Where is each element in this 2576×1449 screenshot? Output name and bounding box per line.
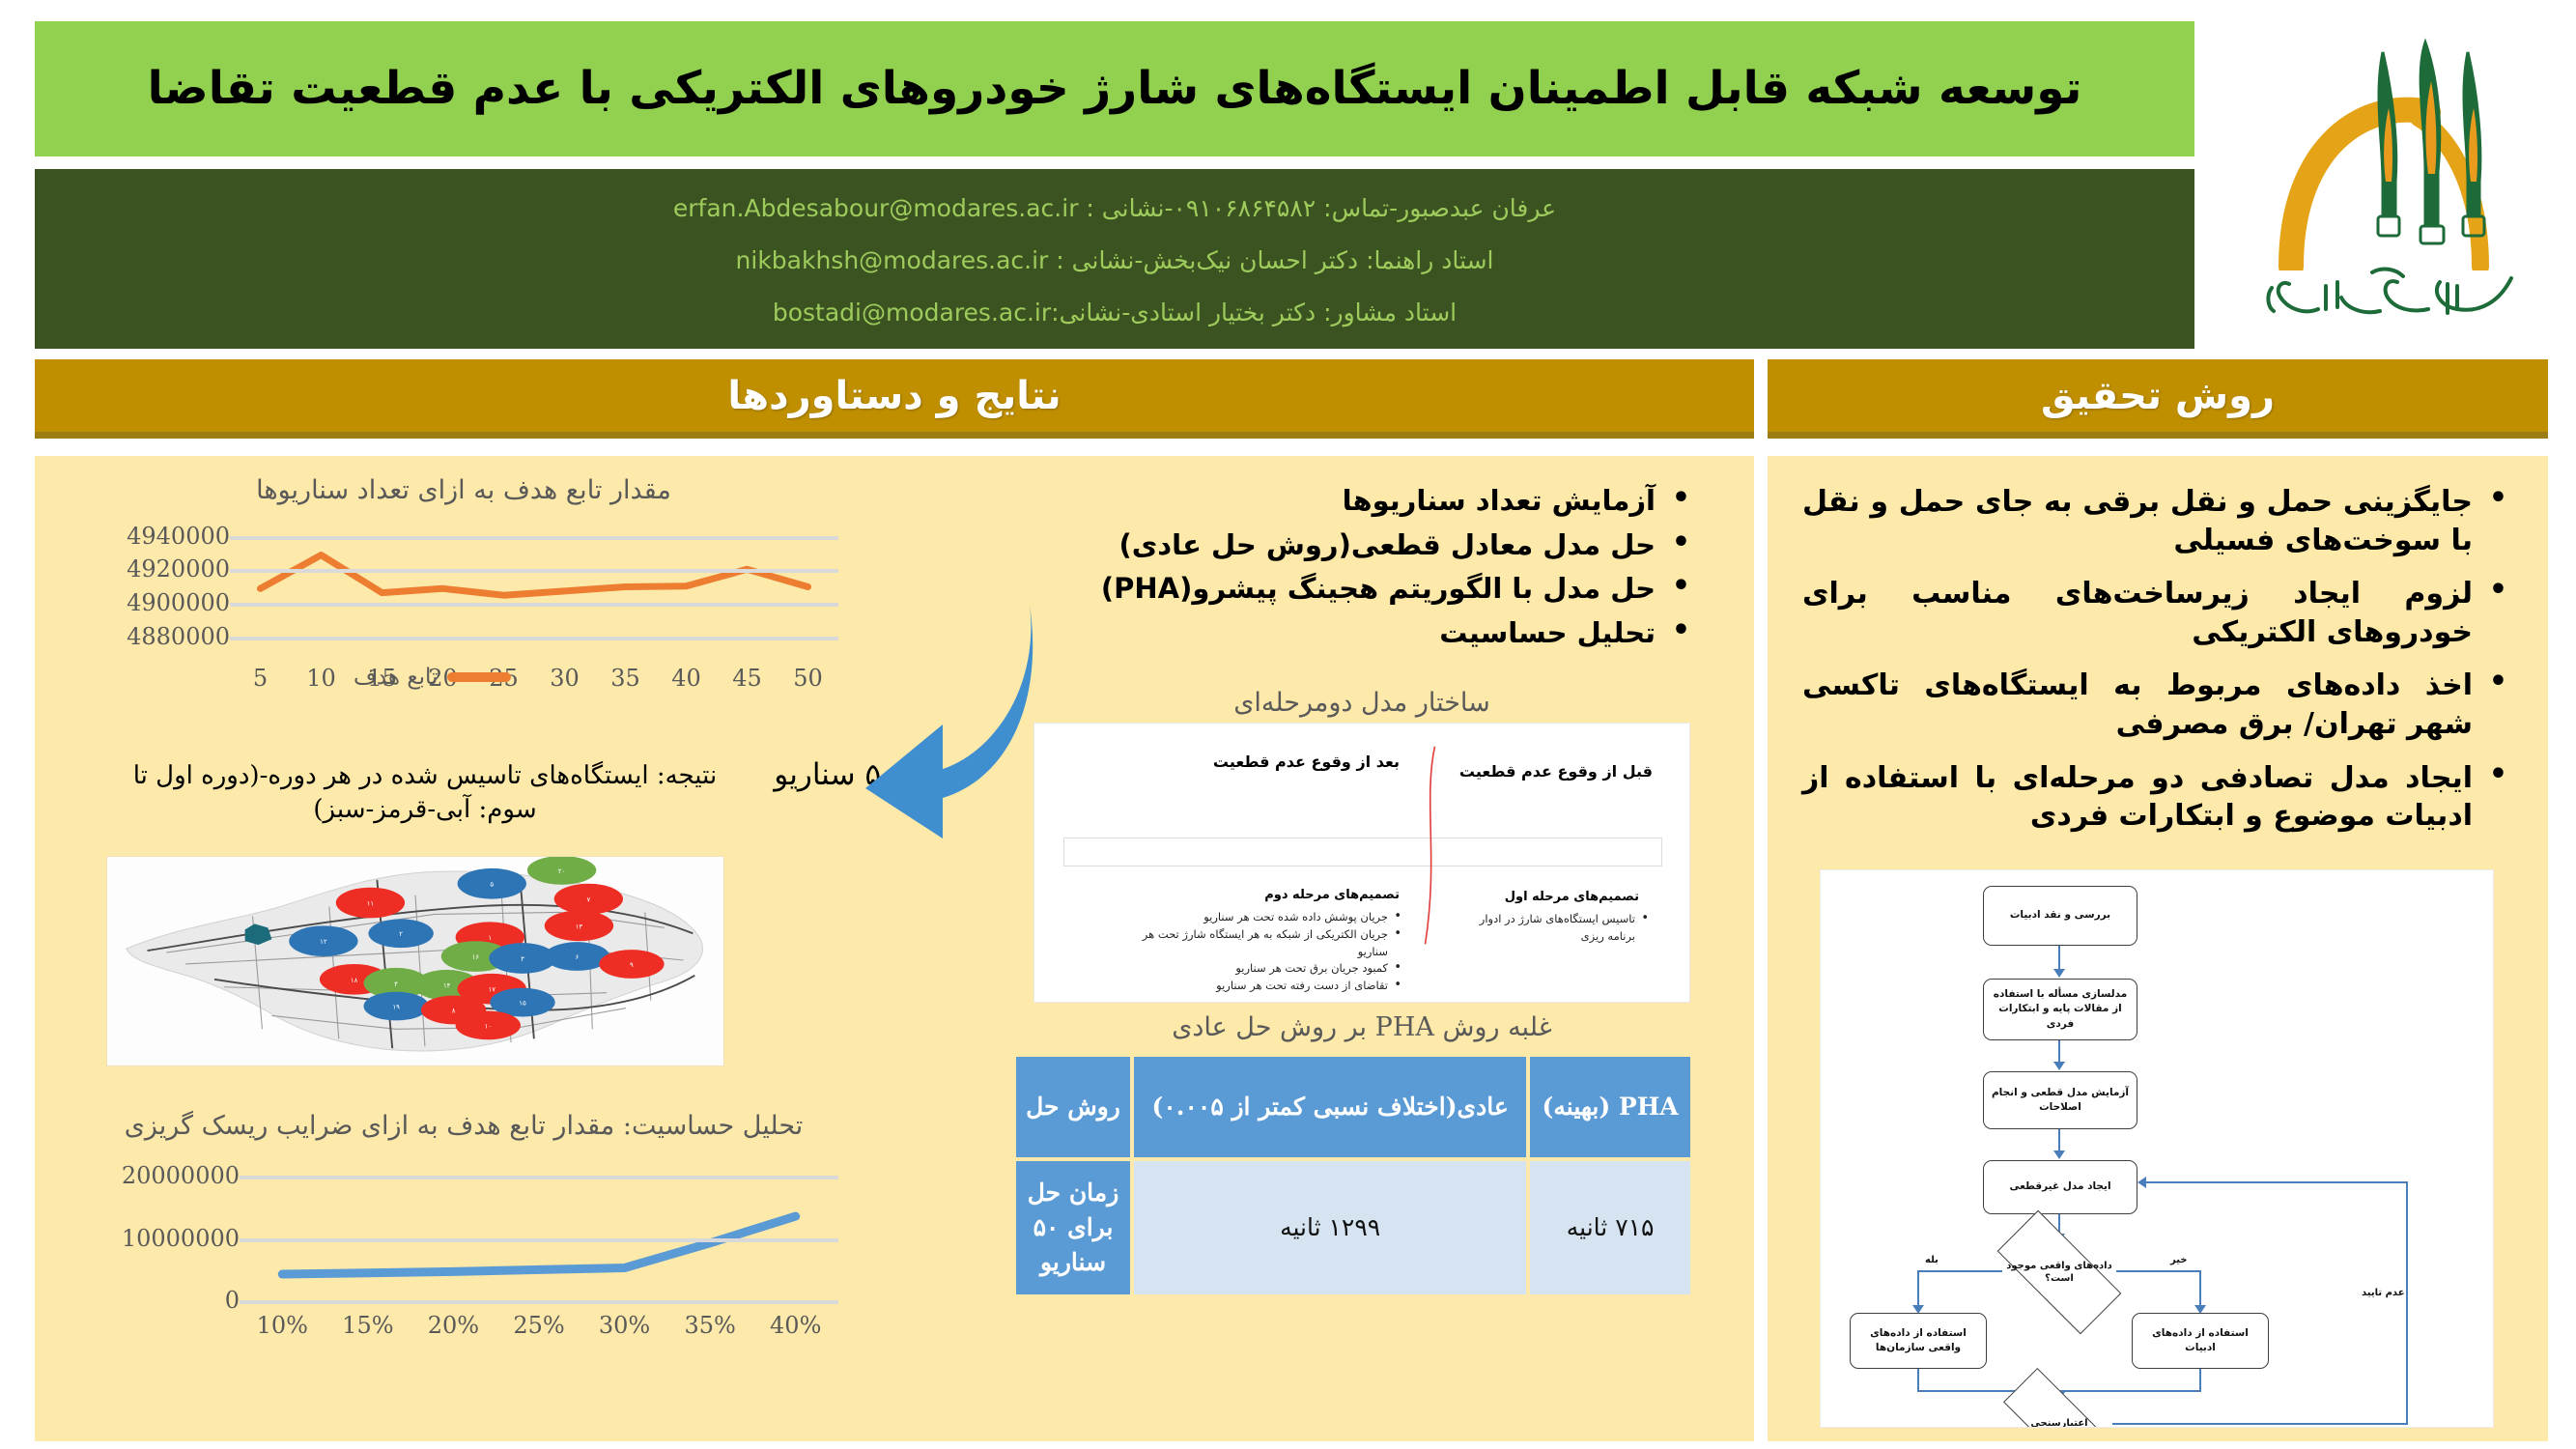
- svg-text:۲: ۲: [399, 930, 403, 938]
- chart-x-tick-label: 30: [550, 665, 580, 692]
- flow-node-deterministic-test: آزمایش مدل قطعی و انجام اصلاحات: [1983, 1071, 2137, 1129]
- stage2-subtitle: تصمیم‌های مرحله دوم: [1264, 888, 1400, 902]
- results-bullet-list: آزمایش تعداد سناریوها حل مدل معادل قطعی(…: [1022, 483, 1698, 660]
- svg-text:۱۶: ۱۶: [472, 953, 480, 961]
- flow-node-literature-data: استفاده از داده‌های ادبیات: [2132, 1313, 2269, 1369]
- flow-arrow: [2058, 1129, 2060, 1152]
- chart-x-tick-label: 10%: [257, 1312, 308, 1339]
- stage1-items: تاسیس ایستگاه‌های شارژ در ادوار برنامه ر…: [1467, 911, 1651, 946]
- tehran-station-map: ۱۱ ۵ ۲۰ ۷ ۱۳ ۱۲ ۲ ۱ ۱۶ ۳ ۶ ۹ ۱۸ ۴ ۱۴ ۱۷ …: [106, 856, 724, 1066]
- list-item: تقاضای از دست رفته تحت هر سناریو: [1123, 978, 1403, 995]
- svg-text:۵: ۵: [490, 881, 494, 889]
- chart-x-tick-label: 30%: [599, 1312, 650, 1339]
- map-graphic: ۱۱ ۵ ۲۰ ۷ ۱۳ ۱۲ ۲ ۱ ۱۶ ۳ ۶ ۹ ۱۸ ۴ ۱۴ ۱۷ …: [107, 857, 723, 1065]
- chart-x-tick-label: 50: [793, 665, 823, 692]
- flow-arrow: [2145, 1181, 2408, 1183]
- chart-gridline: [230, 637, 838, 640]
- flow-decision-label: داده‌های واقعی موجود است؟: [2000, 1260, 2118, 1286]
- pha-table-title: غلبه روش PHA بر روش حل عادی: [1024, 1012, 1700, 1042]
- chart-x-tick-label: 15%: [342, 1312, 393, 1339]
- svg-text:۷: ۷: [586, 896, 590, 904]
- chart-x-tick-label: 35: [610, 665, 640, 692]
- chart-x-tick-label: 40%: [770, 1312, 821, 1339]
- flow-edge-label-reject: عدم تایید: [2362, 1288, 2405, 1298]
- cell-normal-time: ۱۲۹۹ ثانیه: [1134, 1161, 1526, 1294]
- svg-text:۱۱: ۱۱: [367, 900, 374, 908]
- curved-arrow-icon: [850, 580, 1043, 840]
- logo-tulips-icon: [2353, 37, 2498, 259]
- flow-edge-label-no: خیر: [2170, 1255, 2188, 1265]
- col-header-pha: PHA (بهینه): [1530, 1057, 1690, 1157]
- svg-text:۱۲: ۱۲: [320, 938, 327, 946]
- svg-text:۱۸: ۱۸: [351, 977, 358, 984]
- chart-y-tick-label: 4880000: [115, 623, 230, 650]
- flow-edge-label-yes: بله: [1925, 1255, 1939, 1265]
- list-item: جایگزینی حمل و نقل برقی به جای حمل و نقل…: [1802, 483, 2515, 559]
- method-bullet-list: جایگزینی حمل و نقل برقی به جای حمل و نقل…: [1802, 483, 2515, 851]
- svg-text:۴: ۴: [394, 980, 398, 988]
- flow-arrow: [2199, 1270, 2201, 1307]
- chart-series-line: [230, 527, 838, 653]
- chart-title: تحلیل حساسیت: مقدار تابع هدف به ازای ضرا…: [68, 1111, 860, 1141]
- chart-series-line: [240, 1173, 838, 1300]
- chart-x-tick-label: 5: [253, 665, 268, 692]
- flow-node-modeling: مدلسازی مسأله با استفاده از مقالات پایه …: [1983, 979, 2137, 1040]
- section-header-method: روش تحقیق: [1768, 359, 2548, 439]
- university-logo: [2239, 14, 2548, 352]
- legend-label: تابع هدف: [354, 665, 438, 690]
- contact-bar: عرفان عبدصبور-تماس: ۰۹۱۰۶۸۶۴۵۸۲-نشانی : …: [35, 169, 2194, 349]
- flow-node-real-data: استفاده از داده‌های واقعی سازمان‌ها: [1850, 1313, 1987, 1369]
- chart-gridline: [240, 1300, 838, 1304]
- poster-title-bar: توسعه شبکه قابل اطمینان ایستگاه‌های شارژ…: [35, 21, 2194, 156]
- row-header-solve-time: زمان حل برای ۵۰ سناریو: [1016, 1161, 1130, 1294]
- table-row: ۷۱۵ ثانیه ۱۲۹۹ ثانیه زمان حل برای ۵۰ سنا…: [1016, 1161, 1690, 1294]
- chart-x-tick-label: 45: [732, 665, 762, 692]
- svg-text:۲۰: ۲۰: [558, 867, 565, 875]
- svg-text:۶: ۶: [576, 953, 580, 961]
- cell-pha-time: ۷۱۵ ثانیه: [1530, 1161, 1690, 1294]
- contact-line-advisor: استاد مشاور: دکتر بختیار استادی-نشانی:bo…: [93, 299, 2137, 327]
- flow-arrow: [2058, 1040, 2060, 1064]
- flow-arrow: [1917, 1369, 1919, 1392]
- svg-text:۱: ۱: [488, 934, 492, 942]
- chart-x-tick-label: 20%: [428, 1312, 479, 1339]
- section-header-method-label: روش تحقیق: [2041, 374, 2275, 418]
- two-stage-diagram: قبل از وقوع عدم قطعیت بعد از وقوع عدم قط…: [1033, 723, 1690, 1003]
- chart-gridline: [240, 1238, 838, 1242]
- list-item: تحلیل حساسیت: [1022, 615, 1698, 652]
- flow-arrow-head-icon: [2053, 969, 2065, 978]
- list-item: تاسیس ایستگاه‌های شارژ در ادوار برنامه ر…: [1467, 911, 1651, 946]
- list-item: آزمایش تعداد سناریوها: [1022, 483, 1698, 520]
- flow-arrow: [2406, 1181, 2408, 1425]
- page-title: توسعه شبکه قابل اطمینان ایستگاه‌های شارژ…: [148, 62, 2082, 115]
- col-header-method: روش حل: [1016, 1057, 1130, 1157]
- chart-y-tick-label: 10000000: [110, 1225, 240, 1252]
- research-method-flowchart: بررسی و نقد ادبیات مدلسازی مسأله با استف…: [1820, 869, 2494, 1428]
- flow-node-stochastic-model: ایجاد مدل غیرقطعی: [1983, 1160, 2137, 1214]
- flow-decision-real-data: داده‌های واقعی موجود است؟: [2000, 1243, 2118, 1301]
- section-header-results-label: نتایج و دستاوردها: [727, 374, 1061, 418]
- pha-comparison-table: PHA (بهینه) عادی(اختلاف نسبی کمتر از ۰.۰…: [1012, 1053, 1694, 1298]
- svg-text:۱۰: ۱۰: [485, 1022, 492, 1030]
- chart-sensitivity: تحلیل حساسیت: مقدار تابع هدف به ازای ضرا…: [68, 1111, 860, 1362]
- flow-decision-validation: اعتبارسنجی: [2004, 1400, 2114, 1428]
- contact-line-author: عرفان عبدصبور-تماس: ۰۹۱۰۶۸۶۴۵۸۲-نشانی : …: [93, 195, 2137, 222]
- list-item: حل مدل با الگوریتم هجینگ پیشرو(PHA): [1022, 571, 1698, 608]
- flow-arrow: [2116, 1270, 2201, 1272]
- svg-text:۹: ۹: [630, 961, 634, 969]
- chart-x-tick-label: 10: [306, 665, 336, 692]
- flow-arrow: [2112, 1423, 2408, 1425]
- chart-y-tick-label: 4920000: [115, 555, 230, 582]
- chart-y-tick-label: 0: [213, 1287, 240, 1314]
- table-header-row: PHA (بهینه) عادی(اختلاف نسبی کمتر از ۰.۰…: [1016, 1057, 1690, 1157]
- chart-gridline: [230, 536, 838, 540]
- flow-arrow-head-icon: [2053, 1151, 2065, 1159]
- chart-y-tick-label: 20000000: [110, 1162, 240, 1189]
- col-header-normal: عادی(اختلاف نسبی کمتر از ۰.۰۰۵): [1134, 1057, 1526, 1157]
- logo-wordmark-icon: [2258, 253, 2531, 336]
- list-item: کمبود جریان برق تحت هر سناریو: [1123, 960, 1403, 978]
- svg-text:۱۹: ۱۹: [392, 1004, 400, 1011]
- legend-swatch-icon: [447, 672, 511, 682]
- list-item: لزوم ایجاد زیرساخت‌های مناسب برای خودروه…: [1802, 575, 2515, 651]
- list-item: ایجاد مدل تصادفی دو مرحله‌ای با استفاده …: [1802, 759, 2515, 836]
- svg-text:۱۳: ۱۳: [576, 923, 583, 930]
- map-caption: نتیجه: ایستگاه‌های تاسیس شده در هر دوره-…: [116, 759, 734, 827]
- flow-arrow: [1917, 1270, 2002, 1272]
- list-item: حل مدل معادل قطعی(روش حل عادی): [1022, 527, 1698, 564]
- svg-text:۸: ۸: [452, 1008, 456, 1015]
- section-header-results: نتایج و دستاوردها: [35, 359, 1754, 439]
- chart-title: مقدار تابع هدف به ازای تعداد سناریوها: [68, 475, 860, 505]
- svg-text:۳: ۳: [521, 955, 524, 963]
- chart-x-tick-label: 25%: [513, 1312, 564, 1339]
- flow-arrow-head-icon: [2137, 1177, 2146, 1188]
- chart-plot-area: 4880000490000049200004940000510152025303…: [230, 527, 838, 653]
- chart-gridline: [230, 603, 838, 607]
- chart-legend: تابع هدف: [354, 665, 511, 690]
- contact-line-supervisor: استاد راهنما: دکتر احسان نیک‌بخش-نشانی :…: [93, 247, 2137, 274]
- chart-plot-area: 0100000002000000010%15%20%25%30%35%40%: [240, 1173, 838, 1300]
- flow-arrow: [2058, 946, 2060, 971]
- chart-y-tick-label: 4900000: [115, 589, 230, 616]
- flow-arrow: [1917, 1270, 1919, 1307]
- chart-y-tick-label: 4940000: [115, 523, 230, 550]
- stage2-items: جریان پوشش داده شده تحت هر سناریو جریان …: [1123, 909, 1403, 995]
- chart-gridline: [240, 1176, 838, 1179]
- list-item: جریان پوشش داده شده تحت هر سناریو: [1123, 909, 1403, 926]
- flow-decision-label: اعتبارسنجی: [2030, 1417, 2087, 1428]
- svg-text:۱۷: ۱۷: [489, 986, 496, 994]
- chart-x-tick-label: 40: [671, 665, 701, 692]
- chart-gridline: [230, 569, 838, 573]
- list-item: اخذ داده‌های مربوط به ایستگاه‌های تاکسی …: [1802, 667, 2515, 743]
- poster-root: توسعه شبکه قابل اطمینان ایستگاه‌های شارژ…: [0, 0, 2576, 1449]
- two-stage-title: ساختار مدل دومرحله‌ای: [1033, 688, 1690, 718]
- stage1-subtitle: تصمیم‌های مرحله اول: [1505, 890, 1639, 904]
- flow-arrow: [2199, 1369, 2201, 1392]
- chart-objective-vs-scenarios: مقدار تابع هدف به ازای تعداد سناریوها 48…: [68, 475, 860, 697]
- flow-node-literature: بررسی و نقد ادبیات: [1983, 886, 2137, 946]
- list-item: جریان الکتریکی از شبکه به هر ایستگاه شار…: [1123, 926, 1403, 961]
- svg-text:۱۵: ۱۵: [519, 1000, 526, 1008]
- svg-text:۱۴: ۱۴: [443, 982, 451, 990]
- chart-x-tick-label: 35%: [684, 1312, 735, 1339]
- flow-arrow-head-icon: [2053, 1062, 2065, 1070]
